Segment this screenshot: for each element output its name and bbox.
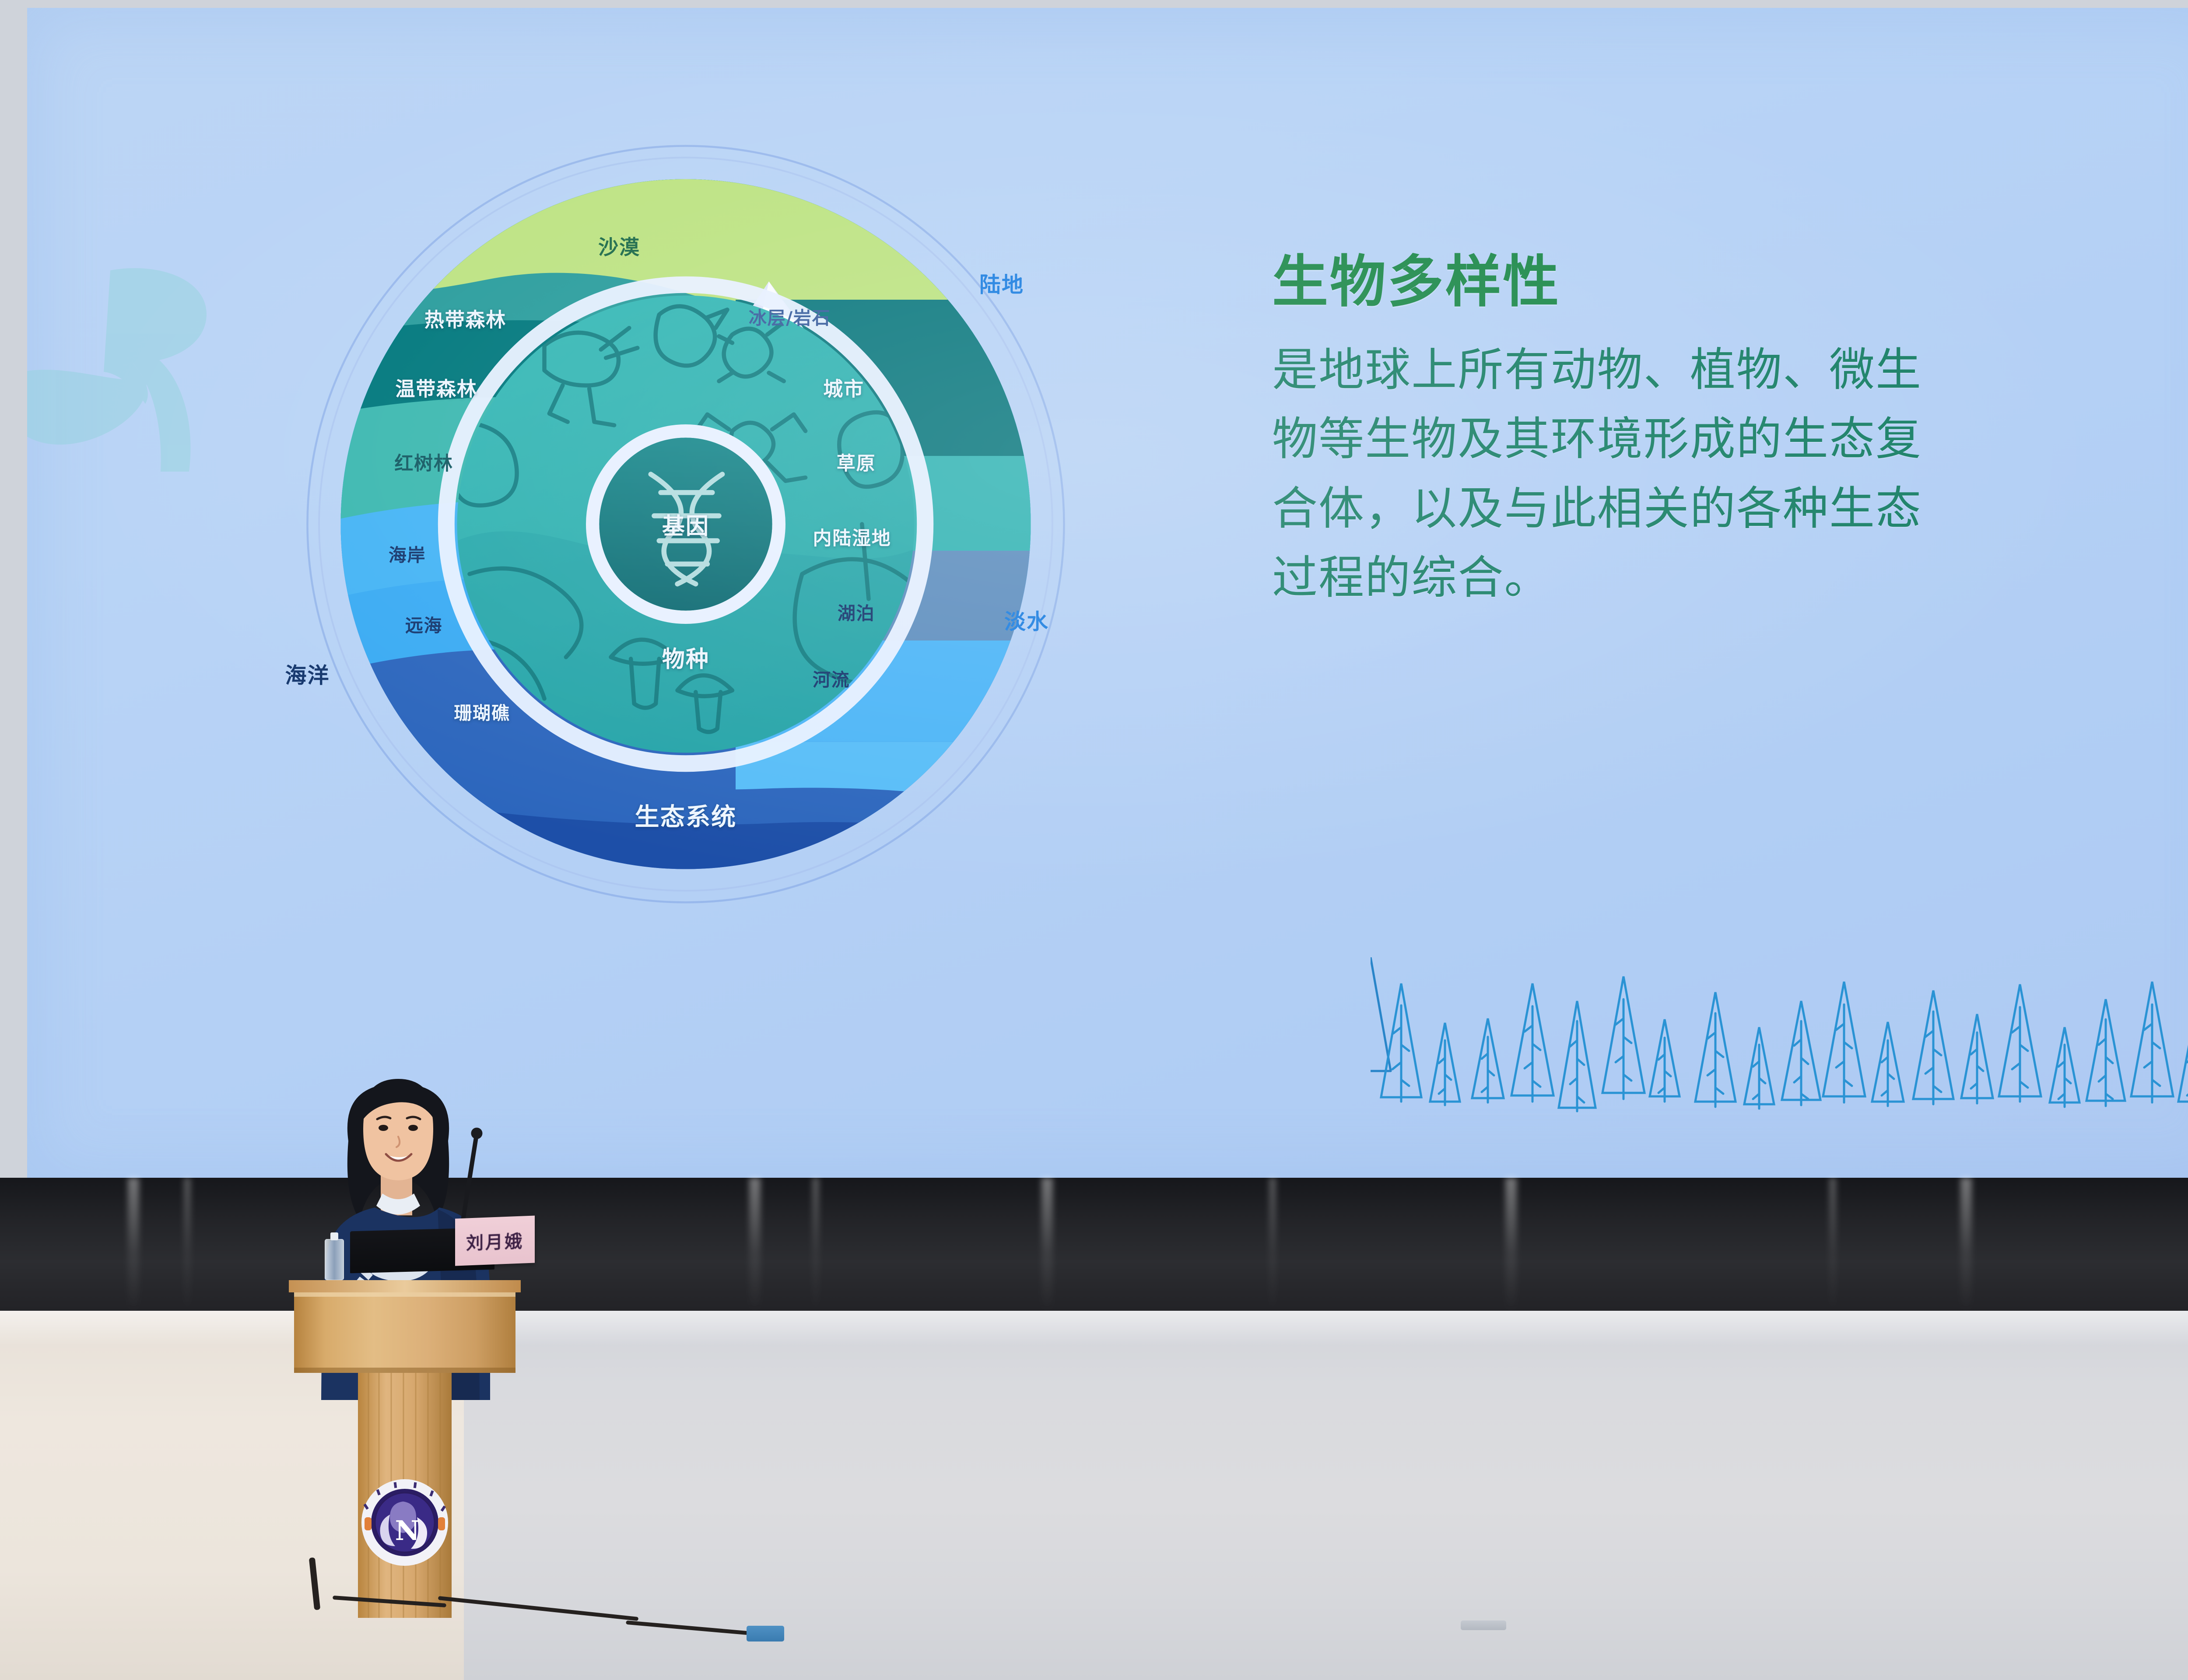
- lecture-hall-scene: 沙漠 热带森林 温带森林 红树林 海岸 远海 珊瑚礁 冰层/岩石 城市 草原 内…: [0, 0, 2188, 1680]
- segment-label-ice-rock: 冰层/岩石: [749, 303, 831, 329]
- butterfly-icon: [27, 253, 207, 472]
- group-label-freshwater: 淡水: [1004, 604, 1049, 635]
- segment-label-open-sea: 远海: [405, 611, 442, 637]
- group-label-land: 陆地: [979, 268, 1024, 299]
- segment-label-lake: 湖泊: [838, 598, 875, 625]
- outer-label-ecosystem: 生态系统: [635, 798, 737, 833]
- slide-body-line-1: 是地球上所有动物、植物、微生: [1272, 335, 2117, 404]
- slide-title: 生物多样性: [1272, 253, 2117, 311]
- floor-object-grey: [1461, 1620, 1506, 1630]
- segment-label-coast: 海岸: [389, 540, 426, 567]
- core-label-gene: 基因: [662, 508, 709, 541]
- segment-label-grassland: 草原: [837, 448, 876, 476]
- name-card-text: 刘月娥: [466, 1227, 524, 1254]
- slide-text-column: 生物多样性 是地球上所有动物、植物、微生 物等生物及其环境形成的生态复 合体，以…: [1272, 253, 2117, 612]
- segment-label-city: 城市: [823, 373, 864, 401]
- name-card: 刘月娥: [455, 1216, 535, 1266]
- projection-slide: 沙漠 热带森林 温带森林 红树林 海岸 远海 珊瑚礁 冰层/岩石 城市 草原 内…: [27, 8, 2188, 1185]
- group-label-ocean: 海洋: [285, 658, 330, 689]
- segment-label-inland-wetland: 内陆湿地: [813, 523, 891, 550]
- pine-trees-icon: [1371, 957, 2188, 1176]
- slide-body-line-4: 过程的综合。: [1272, 543, 2117, 612]
- svg-text:N: N: [395, 1515, 420, 1547]
- segment-label-mangrove: 红树林: [394, 448, 453, 476]
- segment-label-desert: 沙漠: [598, 231, 640, 260]
- biodiversity-circle-diagram: 沙漠 热带森林 温带森林 红树林 海岸 远海 珊瑚礁 冰层/岩石 城市 草原 内…: [270, 108, 1101, 940]
- wooden-podium: N: [284, 1264, 525, 1623]
- mid-label-species: 物种: [662, 641, 709, 674]
- segment-label-coral-reef: 珊瑚礁: [454, 698, 510, 724]
- segment-label-temperate-forest: 温带森林: [395, 373, 477, 401]
- slide-body-line-3: 合体，以及与此相关的各种生态: [1272, 474, 2117, 543]
- segment-label-river: 河流: [813, 665, 850, 691]
- slide-body-line-2: 物等生物及其环境形成的生态复: [1272, 404, 2117, 473]
- floor-object-blue: [747, 1626, 784, 1641]
- segment-label-tropical-forest: 热带森林: [424, 304, 506, 332]
